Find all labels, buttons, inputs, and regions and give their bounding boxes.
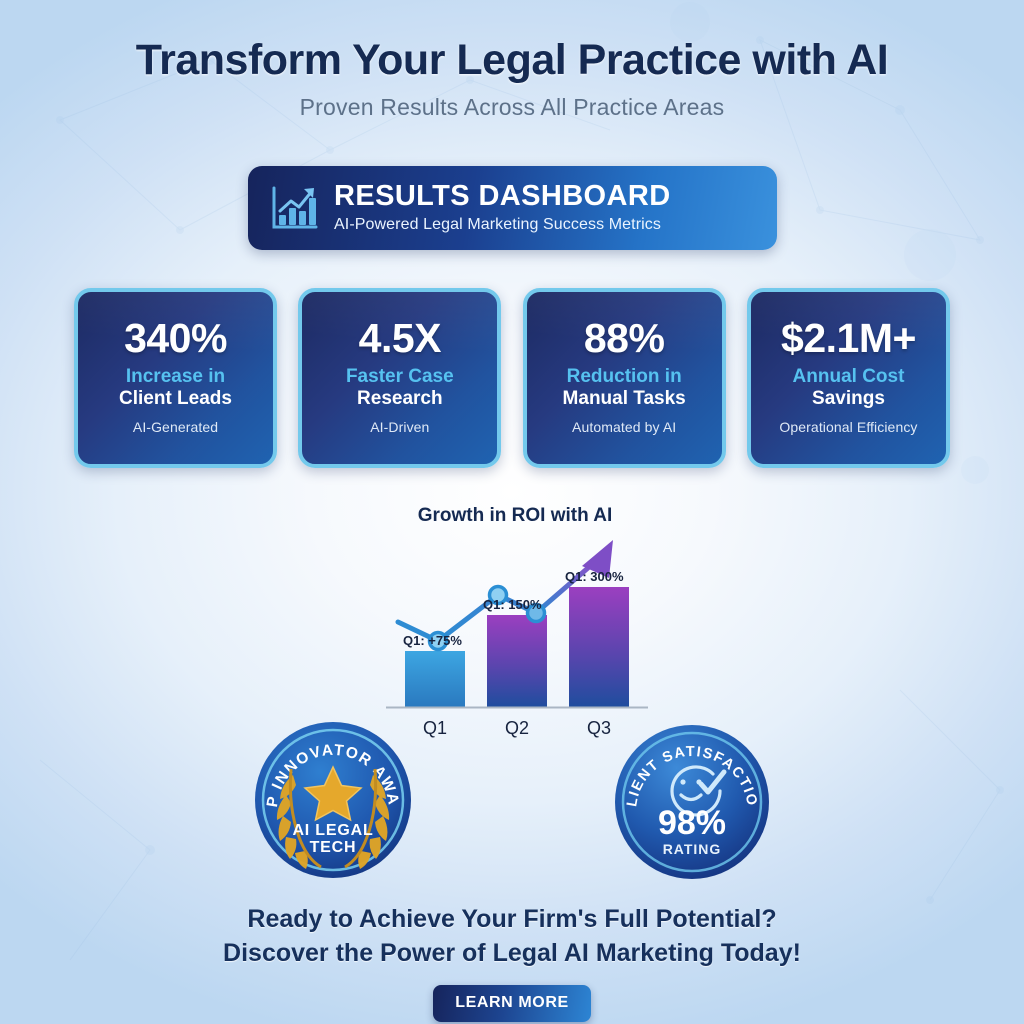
stat-card-cost-savings[interactable]: $2.1M+ Annual Cost Savings Operational E… (747, 288, 950, 468)
stat-label-line1: Increase in (126, 366, 225, 388)
xtick-q2: Q2 (505, 718, 529, 738)
badge-value: 98% (658, 804, 726, 842)
bar-q1 (405, 651, 465, 707)
bar-label-q1: Q1: +75% (403, 633, 462, 648)
stat-value: 4.5X (359, 317, 441, 360)
stat-card-case-research[interactable]: 4.5X Faster Case Research AI-Driven (298, 288, 501, 468)
stat-sublabel: Automated by AI (572, 419, 676, 435)
badge-label: RATING (663, 841, 722, 857)
banner-subtitle: AI-Powered Legal Marketing Success Metri… (334, 216, 671, 234)
xtick-q3: Q3 (587, 718, 611, 738)
stat-label-line1: Annual Cost (793, 366, 905, 388)
stat-card-client-leads[interactable]: 340% Increase in Client Leads AI-Generat… (74, 288, 277, 468)
stat-value: $2.1M+ (781, 317, 916, 360)
call-to-action: Ready to Achieve Your Firm's Full Potent… (0, 903, 1024, 1022)
stat-value: 340% (124, 317, 227, 360)
stat-value: 88% (584, 317, 665, 360)
badge-client-satisfaction: CLIENT SATISFACTION 98% RATING (609, 722, 775, 882)
chart-title: Growth in ROI with AI (370, 505, 660, 527)
badge-top-innovator-award: TOP INNOVATOR AWARD (249, 719, 417, 881)
badge-line1: AI LEGAL (292, 822, 373, 839)
page-subtitle: Proven Results Across All Practice Areas (0, 94, 1024, 121)
stat-label-line1: Faster Case (346, 366, 454, 388)
stat-label-line1: Reduction in (567, 366, 682, 388)
xtick-q1: Q1 (423, 718, 447, 738)
stat-label-line2: Savings (812, 388, 885, 411)
bar-label-q2: Q1: 150% (483, 597, 542, 612)
bar-q2 (487, 615, 547, 707)
stat-label-line2: Research (357, 388, 443, 411)
stat-sublabel: AI-Generated (133, 419, 218, 435)
stat-label-line2: Manual Tasks (563, 388, 686, 411)
bar-q3 (569, 587, 629, 707)
learn-more-button[interactable]: LEARN MORE (433, 985, 591, 1022)
chart-canvas: Q1: +75% Q1: 150% Q1: 300% Q1 Q2 Q3 (370, 529, 660, 740)
bar-chart-growth-icon (268, 183, 320, 233)
stat-card-manual-tasks[interactable]: 88% Reduction in Manual Tasks Automated … (523, 288, 726, 468)
page-header: Transform Your Legal Practice with AI Pr… (0, 36, 1024, 121)
stat-label-line2: Client Leads (119, 388, 232, 411)
bar-label-q3: Q1: 300% (565, 569, 624, 584)
stat-sublabel: Operational Efficiency (779, 419, 917, 435)
cta-line1: Ready to Achieve Your Firm's Full Potent… (0, 903, 1024, 937)
stat-sublabel: AI-Driven (370, 419, 429, 435)
results-dashboard-banner: RESULTS DASHBOARD AI-Powered Legal Marke… (248, 166, 777, 250)
badge-line2: TECH (310, 839, 357, 856)
infographic-page: Transform Your Legal Practice with AI Pr… (0, 0, 1024, 1024)
roi-growth-chart: Growth in ROI with AI (370, 505, 660, 740)
stat-cards-row: 340% Increase in Client Leads AI-Generat… (74, 288, 950, 468)
banner-title: RESULTS DASHBOARD (334, 182, 671, 212)
page-title: Transform Your Legal Practice with AI (0, 36, 1024, 85)
cta-line2: Discover the Power of Legal AI Marketing… (0, 937, 1024, 971)
